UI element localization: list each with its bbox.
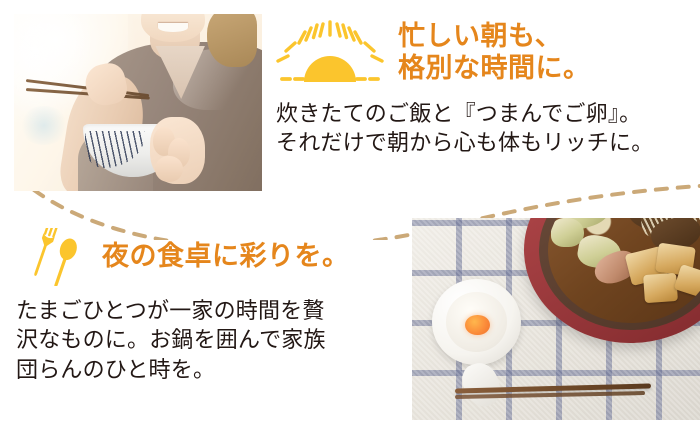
morning-headline: 忙しい朝も、 格別な時間に。	[398, 21, 591, 85]
woman-hair	[207, 14, 257, 67]
evening-headline-row: 夜の食卓に彩りを。	[16, 228, 408, 286]
bowl-interior	[446, 292, 507, 351]
photo-morning-meal	[14, 14, 262, 191]
egg-yolk	[465, 315, 489, 335]
evening-body-text: たまごひとつが一家の時間を贅 沢なものに。お鍋を囲んで家族 団らんのひと時を。	[16, 296, 408, 384]
photo-dinner-hotpot	[412, 218, 700, 420]
sunrise-icon	[276, 16, 384, 90]
section-evening: 夜の食卓に彩りを。 たまごひとつが一家の時間を贅 沢なものに。お鍋を囲んで家族 …	[16, 228, 408, 384]
fried-tofu	[643, 272, 678, 302]
fork-spoon-icon	[16, 228, 92, 286]
promo-canvas: 忙しい朝も、 格別な時間に。 炊きたてのご飯と『つまんでご卵』。 それだけで朝か…	[0, 0, 700, 435]
bowl-stripe-pattern	[85, 131, 145, 168]
morning-body-text: 炊きたてのご飯と『つまんでご卵』。 それだけで朝から心も体もリッチに。	[276, 99, 690, 158]
finger	[155, 156, 182, 183]
section-morning: 忙しい朝も、 格別な時間に。 炊きたてのご飯と『つまんでご卵』。 それだけで朝か…	[276, 16, 690, 158]
egg-bowl	[432, 279, 521, 366]
background-accent	[19, 106, 69, 145]
evening-headline: 夜の食卓に彩りを。	[102, 241, 350, 273]
morning-headline-row: 忙しい朝も、 格別な時間に。	[276, 16, 690, 90]
woman-smile	[158, 23, 188, 32]
